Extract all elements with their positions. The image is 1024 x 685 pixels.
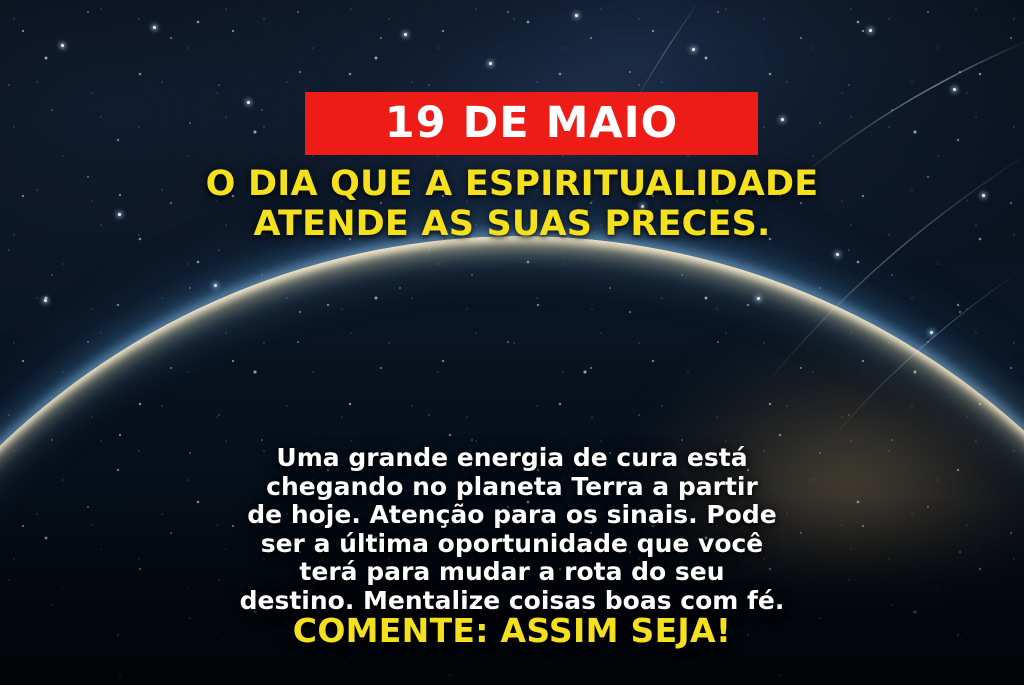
headline-line-2: ATENDE AS SUAS PRECES. — [0, 204, 1024, 244]
poster-content: 19 DE MAIO O DIA QUE A ESPIRITUALIDADE A… — [0, 0, 1024, 685]
date-banner-text: 19 DE MAIO — [385, 102, 678, 145]
headline-line-1: O DIA QUE A ESPIRITUALIDADE — [0, 164, 1024, 204]
body-line-4: ser a última oportunidade que você — [0, 530, 1024, 559]
headline: O DIA QUE A ESPIRITUALIDADE ATENDE AS SU… — [0, 164, 1024, 244]
call-to-action-text: COMENTE: ASSIM SEJA! — [0, 612, 1024, 650]
body-line-3: de hoje. Atenção para os sinais. Pode — [0, 501, 1024, 530]
body-line-5: terá para mudar a rota do seu — [0, 558, 1024, 587]
body-line-2: chegando no planeta Terra a partir — [0, 473, 1024, 502]
body-copy: Uma grande energia de cura está chegando… — [0, 444, 1024, 615]
poster-canvas: 19 DE MAIO O DIA QUE A ESPIRITUALIDADE A… — [0, 0, 1024, 685]
date-banner: 19 DE MAIO — [305, 92, 758, 155]
body-line-1: Uma grande energia de cura está — [0, 444, 1024, 473]
